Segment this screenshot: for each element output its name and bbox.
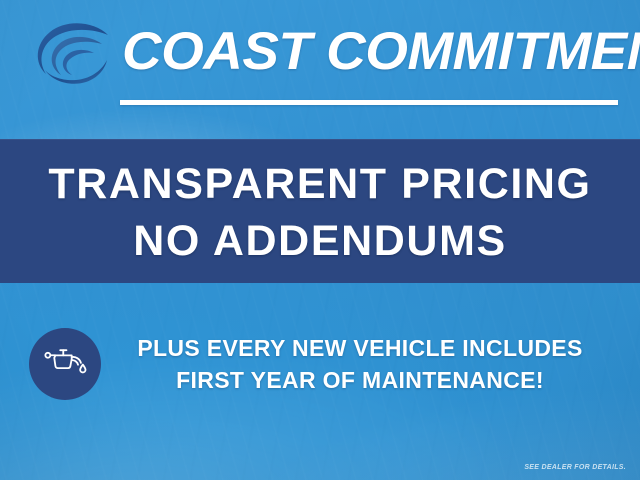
promo-line-2: FIRST YEAR OF MAINTENANCE!: [110, 364, 610, 396]
page-title: COAST COMMITMENT: [122, 21, 640, 83]
headline-line-2: NO ADDENDUMS: [0, 217, 640, 266]
oil-can-icon: [42, 346, 88, 382]
coast-commitment-banner: COAST COMMITMENT TRANSPARENT PRICING NO …: [0, 0, 640, 480]
headline-line-1: TRANSPARENT PRICING: [0, 160, 640, 209]
coast-wave-swirl-icon: [28, 18, 114, 88]
header-divider: [120, 100, 618, 105]
promo-line-1: PLUS EVERY NEW VEHICLE INCLUDES: [110, 332, 610, 364]
promo-row: PLUS EVERY NEW VEHICLE INCLUDES FIRST YE…: [0, 326, 640, 406]
banner-header: COAST COMMITMENT: [0, 0, 640, 138]
promo-text: PLUS EVERY NEW VEHICLE INCLUDES FIRST YE…: [110, 332, 610, 396]
promo-badge: [29, 328, 101, 400]
disclaimer-text: SEE DEALER FOR DETAILS.: [524, 464, 626, 471]
headline-band: TRANSPARENT PRICING NO ADDENDUMS: [0, 139, 640, 283]
